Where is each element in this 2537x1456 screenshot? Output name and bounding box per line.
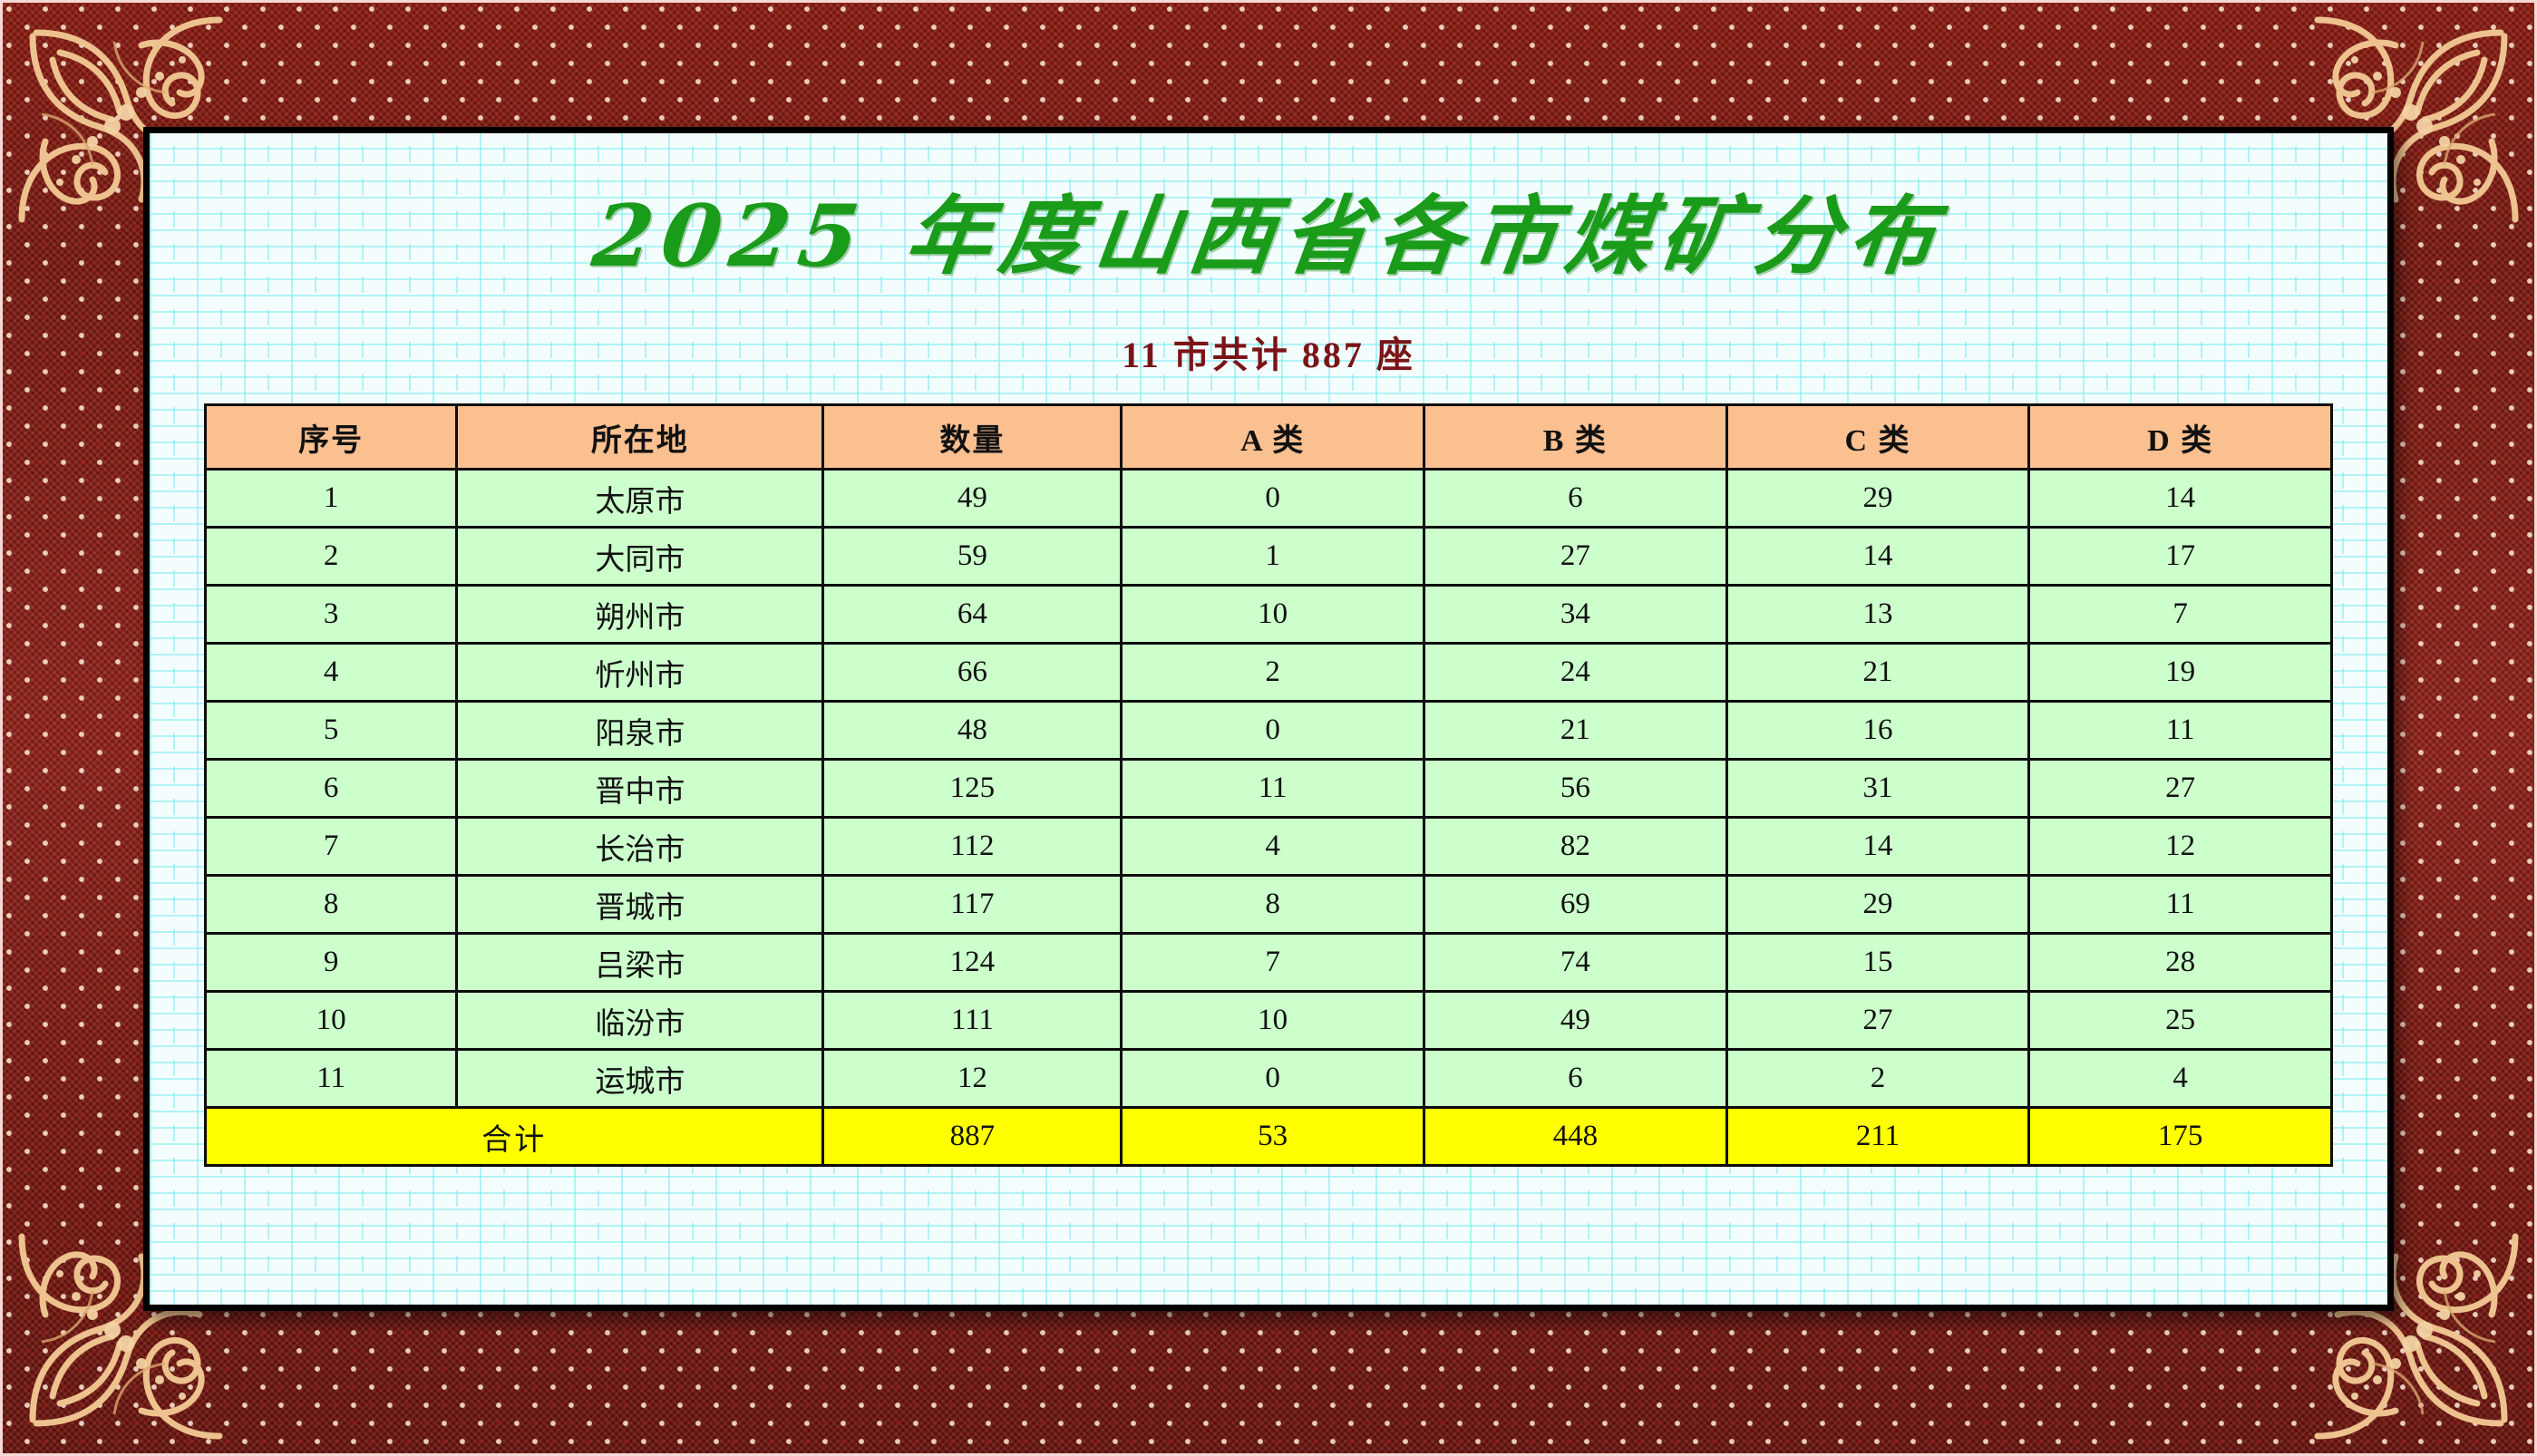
cell-class-a: 8 xyxy=(1122,876,1424,934)
cell-location: 临汾市 xyxy=(457,992,823,1050)
cell-total-class-a: 53 xyxy=(1122,1108,1424,1166)
cell-class-c: 2 xyxy=(1726,1050,2029,1108)
coal-mine-distribution-table: 序号 所在地 数量 A 类 B 类 C 类 D 类 1 xyxy=(204,403,2333,1167)
cell-class-d: 19 xyxy=(2029,644,2332,702)
table-header-row: 序号 所在地 数量 A 类 B 类 C 类 D 类 xyxy=(206,405,2332,470)
cell-class-a: 4 xyxy=(1122,818,1424,876)
cell-class-c: 13 xyxy=(1726,586,2029,644)
cell-class-b: 21 xyxy=(1424,702,1727,760)
table-row: 7 长治市 112 4 82 14 12 xyxy=(206,818,2332,876)
page-subtitle: 11 市共计 887 座 xyxy=(204,325,2333,378)
cell-quantity: 117 xyxy=(823,876,1122,934)
column-header-class-c: C 类 xyxy=(1726,405,2029,470)
cell-total-class-d: 175 xyxy=(2029,1108,2332,1166)
table-row: 6 晋中市 125 11 56 31 27 xyxy=(206,760,2332,818)
cell-location: 运城市 xyxy=(457,1050,823,1108)
coal-mine-table-wrapper: 序号 所在地 数量 A 类 B 类 C 类 D 类 1 xyxy=(204,403,2333,1167)
cell-location: 晋城市 xyxy=(457,876,823,934)
cell-index: 6 xyxy=(206,760,457,818)
table-row: 9 吕梁市 124 7 74 15 28 xyxy=(206,934,2332,992)
cell-class-c: 29 xyxy=(1726,470,2029,528)
cell-quantity: 124 xyxy=(823,934,1122,992)
cell-class-d: 27 xyxy=(2029,760,2332,818)
cell-index: 4 xyxy=(206,644,457,702)
column-header-class-a: A 类 xyxy=(1122,405,1424,470)
table-total-row: 合计 887 53 448 211 175 xyxy=(206,1108,2332,1166)
cell-class-a: 10 xyxy=(1122,992,1424,1050)
cell-location: 长治市 xyxy=(457,818,823,876)
cell-location: 晋中市 xyxy=(457,760,823,818)
cell-class-c: 27 xyxy=(1726,992,2029,1050)
cell-quantity: 48 xyxy=(823,702,1122,760)
cell-index: 8 xyxy=(206,876,457,934)
inner-black-frame: 2025 年度山西省各市煤矿分布 11 市共计 887 座 序号 所在地 数 xyxy=(143,127,2394,1311)
cell-class-a: 0 xyxy=(1122,470,1424,528)
cell-quantity: 111 xyxy=(823,992,1122,1050)
table-row: 3 朔州市 64 10 34 13 7 xyxy=(206,586,2332,644)
cell-class-a: 0 xyxy=(1122,1050,1424,1108)
cell-location: 吕梁市 xyxy=(457,934,823,992)
cell-index: 9 xyxy=(206,934,457,992)
cell-class-b: 27 xyxy=(1424,528,1727,586)
cell-total-label: 合计 xyxy=(206,1108,823,1166)
cell-class-d: 25 xyxy=(2029,992,2332,1050)
cell-quantity: 64 xyxy=(823,586,1122,644)
cell-class-c: 29 xyxy=(1726,876,2029,934)
column-header-quantity: 数量 xyxy=(823,405,1122,470)
cell-class-c: 14 xyxy=(1726,528,2029,586)
cell-class-a: 0 xyxy=(1122,702,1424,760)
cell-class-b: 69 xyxy=(1424,876,1727,934)
cell-class-d: 12 xyxy=(2029,818,2332,876)
cell-quantity: 112 xyxy=(823,818,1122,876)
poster-frame: 2025 年度山西省各市煤矿分布 11 市共计 887 座 序号 所在地 数 xyxy=(0,0,2537,1456)
brick-background-panel: 2025 年度山西省各市煤矿分布 11 市共计 887 座 序号 所在地 数 xyxy=(150,133,2387,1305)
cell-class-c: 21 xyxy=(1726,644,2029,702)
cell-class-a: 11 xyxy=(1122,760,1424,818)
cell-class-b: 6 xyxy=(1424,1050,1727,1108)
cell-class-c: 14 xyxy=(1726,818,2029,876)
column-header-index: 序号 xyxy=(206,405,457,470)
table-row: 10 临汾市 111 10 49 27 25 xyxy=(206,992,2332,1050)
cell-class-d: 17 xyxy=(2029,528,2332,586)
cell-class-c: 31 xyxy=(1726,760,2029,818)
table-row: 8 晋城市 117 8 69 29 11 xyxy=(206,876,2332,934)
cell-quantity: 66 xyxy=(823,644,1122,702)
cell-class-a: 7 xyxy=(1122,934,1424,992)
cell-index: 10 xyxy=(206,992,457,1050)
cell-total-class-c: 211 xyxy=(1726,1108,2029,1166)
cell-class-a: 2 xyxy=(1122,644,1424,702)
cell-class-d: 4 xyxy=(2029,1050,2332,1108)
cell-index: 11 xyxy=(206,1050,457,1108)
cell-quantity: 49 xyxy=(823,470,1122,528)
cell-class-b: 34 xyxy=(1424,586,1727,644)
page-title: 2025 年度山西省各市煤矿分布 xyxy=(198,188,2338,286)
cell-class-a: 10 xyxy=(1122,586,1424,644)
table-row: 4 忻州市 66 2 24 21 19 xyxy=(206,644,2332,702)
cell-class-d: 11 xyxy=(2029,876,2332,934)
cell-class-d: 7 xyxy=(2029,586,2332,644)
cell-index: 7 xyxy=(206,818,457,876)
cell-class-c: 16 xyxy=(1726,702,2029,760)
cell-total-class-b: 448 xyxy=(1424,1108,1727,1166)
table-row: 5 阳泉市 48 0 21 16 11 xyxy=(206,702,2332,760)
cell-quantity: 59 xyxy=(823,528,1122,586)
cell-class-b: 56 xyxy=(1424,760,1727,818)
column-header-location: 所在地 xyxy=(457,405,823,470)
table-row: 1 太原市 49 0 6 29 14 xyxy=(206,470,2332,528)
cell-quantity: 125 xyxy=(823,760,1122,818)
cell-location: 朔州市 xyxy=(457,586,823,644)
cell-class-a: 1 xyxy=(1122,528,1424,586)
cell-class-d: 28 xyxy=(2029,934,2332,992)
cell-index: 3 xyxy=(206,586,457,644)
cell-class-d: 11 xyxy=(2029,702,2332,760)
column-header-class-d: D 类 xyxy=(2029,405,2332,470)
cell-class-d: 14 xyxy=(2029,470,2332,528)
cell-quantity: 12 xyxy=(823,1050,1122,1108)
cell-class-b: 24 xyxy=(1424,644,1727,702)
cell-class-b: 82 xyxy=(1424,818,1727,876)
cell-class-b: 49 xyxy=(1424,992,1727,1050)
cell-location: 大同市 xyxy=(457,528,823,586)
table-row: 2 大同市 59 1 27 14 17 xyxy=(206,528,2332,586)
cell-location: 忻州市 xyxy=(457,644,823,702)
column-header-class-b: B 类 xyxy=(1424,405,1727,470)
cell-class-b: 74 xyxy=(1424,934,1727,992)
table-row: 11 运城市 12 0 6 2 4 xyxy=(206,1050,2332,1108)
cell-total-quantity: 887 xyxy=(823,1108,1122,1166)
cell-location: 阳泉市 xyxy=(457,702,823,760)
cell-index: 2 xyxy=(206,528,457,586)
cell-class-b: 6 xyxy=(1424,470,1727,528)
cell-index: 1 xyxy=(206,470,457,528)
cell-class-c: 15 xyxy=(1726,934,2029,992)
cell-location: 太原市 xyxy=(457,470,823,528)
cell-index: 5 xyxy=(206,702,457,760)
